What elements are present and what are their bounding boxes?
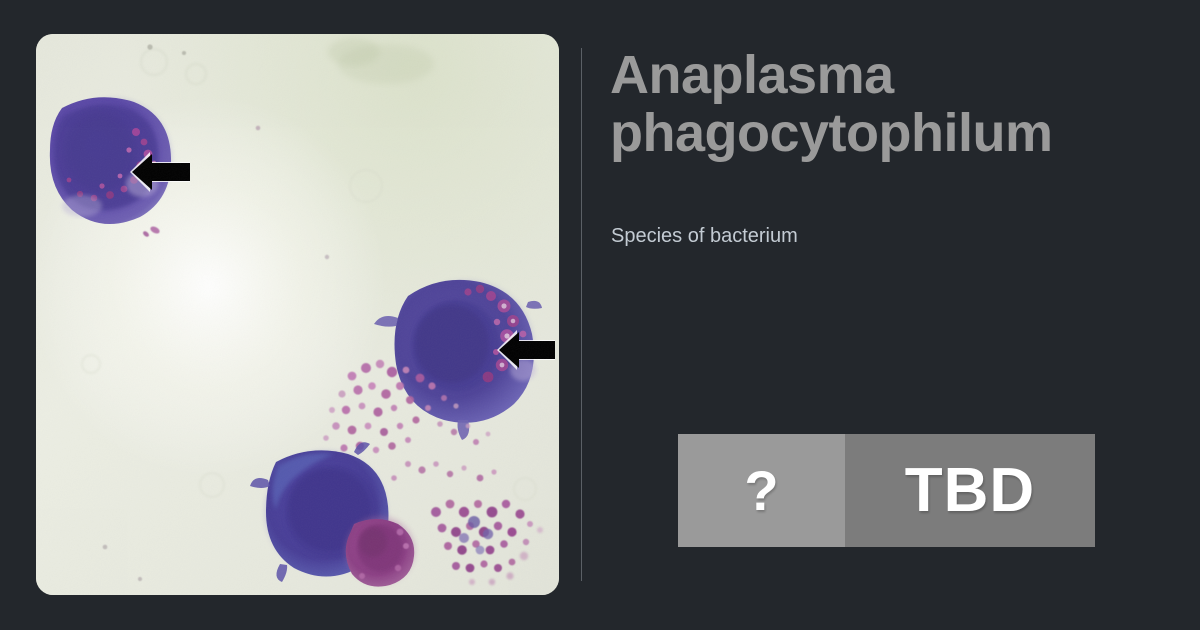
status-badge-question-panel: ? bbox=[678, 434, 845, 547]
microscopy-photo bbox=[36, 34, 559, 595]
text-column: Anaplasma phagocytophilum Species of bac… bbox=[610, 46, 1176, 162]
question-mark-icon: ? bbox=[744, 463, 778, 519]
status-badge: ? TBD bbox=[678, 434, 1095, 547]
social-preview-card: Anaplasma phagocytophilum Species of bac… bbox=[0, 0, 1200, 630]
microscopy-photo-canvas bbox=[36, 34, 559, 595]
page-subtitle: Species of bacterium bbox=[611, 224, 798, 248]
status-badge-label: TBD bbox=[905, 460, 1035, 522]
status-badge-label-panel: TBD bbox=[845, 434, 1095, 547]
page-title: Anaplasma phagocytophilum bbox=[610, 46, 1176, 162]
vertical-divider bbox=[581, 48, 582, 581]
